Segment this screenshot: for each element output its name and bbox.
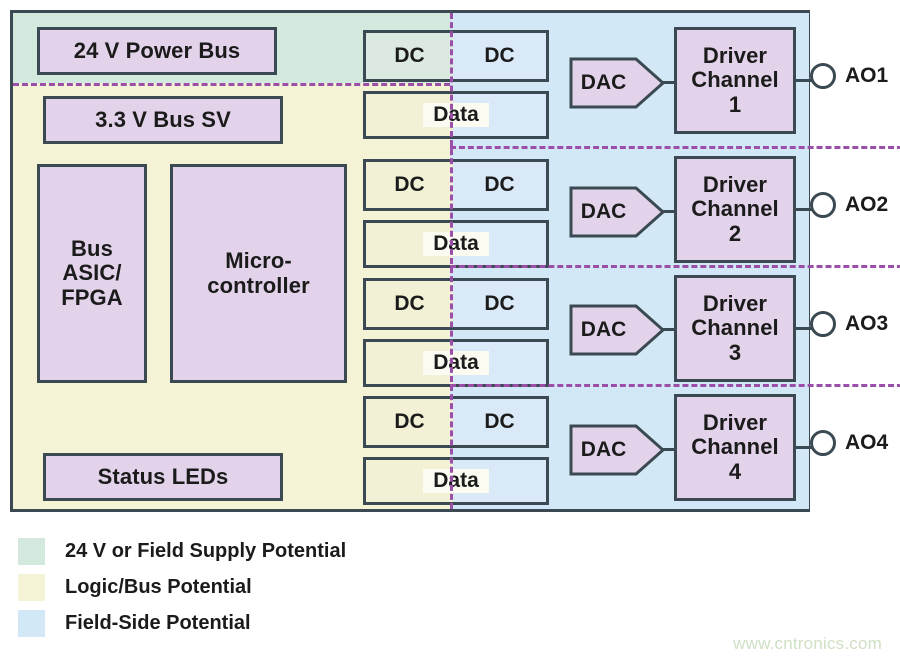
data-1-label-wrap: Data: [366, 94, 546, 136]
dcdc-1-left-label: DC: [366, 33, 453, 79]
block-driver-channel-1-label: Driver Channel 1: [691, 44, 779, 118]
dac-4: DAC: [569, 424, 665, 476]
data-3-label: Data: [423, 351, 489, 375]
legend-swatch-field: [18, 610, 45, 637]
terminal-ao2-node: [810, 192, 836, 218]
terminal-ao3-label: AO3: [845, 312, 888, 336]
legend-label-logic: Logic/Bus Potential: [65, 576, 252, 599]
block-status-leds-label: Status LEDs: [98, 465, 229, 490]
terminal-ao4-node: [810, 430, 836, 456]
block-driver-channel-1: Driver Channel 1: [674, 27, 796, 134]
data-1-label: Data: [423, 103, 489, 127]
legend-swatch-logic: [18, 574, 45, 601]
dcdc-4-right-label: DC: [453, 399, 546, 445]
block-driver-channel-3: Driver Channel 3: [674, 275, 796, 382]
terminal-ao1-node: [810, 63, 836, 89]
wire-dac-3-to-driver: [661, 328, 675, 331]
isolation-barrier-channel-3-4: [450, 384, 900, 387]
block-24v-power-bus-label: 24 V Power Bus: [74, 39, 240, 64]
dcdc-1-right-label: DC: [453, 33, 546, 79]
isolation-bar-dcdc-4: DC DC: [363, 396, 549, 448]
watermark: www.cntronics.com: [733, 634, 882, 654]
isolation-bar-data-1: Data: [363, 91, 549, 139]
data-4-label: Data: [423, 469, 489, 493]
isolation-barrier-channel-2-3: [450, 265, 900, 268]
data-2-label-wrap: Data: [366, 223, 546, 265]
data-2-label: Data: [423, 232, 489, 256]
block-bus-asic-fpga: Bus ASIC/ FPGA: [37, 164, 147, 383]
isolation-bar-data-3: Data: [363, 339, 549, 387]
dac-2-label: DAC: [569, 186, 638, 238]
block-driver-channel-4: Driver Channel 4: [674, 394, 796, 501]
dac-1-label: DAC: [569, 57, 638, 109]
dac-2: DAC: [569, 186, 665, 238]
block-bus-asic-fpga-label: Bus ASIC/ FPGA: [61, 237, 123, 311]
block-3v3-bus-supply: 3.3 V Bus SV: [43, 96, 283, 144]
block-microcontroller-label: Micro- controller: [207, 249, 309, 298]
block-driver-channel-3-label: Driver Channel 3: [691, 292, 779, 366]
wire-dac-2-to-driver: [661, 210, 675, 213]
terminal-ao1-label: AO1: [845, 64, 888, 88]
isolation-bar-data-4: Data: [363, 457, 549, 505]
legend-label-supply: 24 V or Field Supply Potential: [65, 540, 346, 563]
isolation-bar-dcdc-1: DC DC: [363, 30, 549, 82]
dcdc-3-right-label: DC: [453, 281, 546, 327]
block-status-leds: Status LEDs: [43, 453, 283, 501]
block-driver-channel-2-label: Driver Channel 2: [691, 173, 779, 247]
isolation-bar-data-2: Data: [363, 220, 549, 268]
dac-3: DAC: [569, 304, 665, 356]
dcdc-2-left-label: DC: [366, 162, 453, 208]
legend-item-field: Field-Side Potential: [18, 605, 618, 641]
legend-swatch-supply: [18, 538, 45, 565]
dcdc-4-left-label: DC: [366, 399, 453, 445]
wire-dac-1-to-driver: [661, 81, 675, 84]
data-4-label-wrap: Data: [366, 460, 546, 502]
terminal-ao4-label: AO4: [845, 431, 888, 455]
terminal-ao3-node: [810, 311, 836, 337]
block-microcontroller: Micro- controller: [170, 164, 347, 383]
dcdc-3-left-label: DC: [366, 281, 453, 327]
data-3-label-wrap: Data: [366, 342, 546, 384]
isolation-barrier-vertical: [450, 13, 453, 509]
isolation-barrier-channel-1-2: [450, 146, 900, 149]
wire-dac-4-to-driver: [661, 448, 675, 451]
dac-4-label: DAC: [569, 424, 638, 476]
isolation-bar-dcdc-3: DC DC: [363, 278, 549, 330]
block-driver-channel-4-label: Driver Channel 4: [691, 411, 779, 485]
dac-1: DAC: [569, 57, 665, 109]
terminal-ao2-label: AO2: [845, 193, 888, 217]
block-diagram: 24 V Power Bus 3.3 V Bus SV Bus ASIC/ FP…: [10, 10, 810, 512]
isolation-bar-dcdc-2: DC DC: [363, 159, 549, 211]
legend-item-supply: 24 V or Field Supply Potential: [18, 533, 618, 569]
block-3v3-bus-supply-label: 3.3 V Bus SV: [95, 108, 231, 133]
legend-item-logic: Logic/Bus Potential: [18, 569, 618, 605]
isolation-barrier-supply-logic: [13, 83, 450, 86]
legend-label-field: Field-Side Potential: [65, 612, 251, 635]
block-24v-power-bus: 24 V Power Bus: [37, 27, 277, 75]
dcdc-2-right-label: DC: [453, 162, 546, 208]
block-driver-channel-2: Driver Channel 2: [674, 156, 796, 263]
dac-3-label: DAC: [569, 304, 638, 356]
legend: 24 V or Field Supply Potential Logic/Bus…: [18, 533, 618, 641]
